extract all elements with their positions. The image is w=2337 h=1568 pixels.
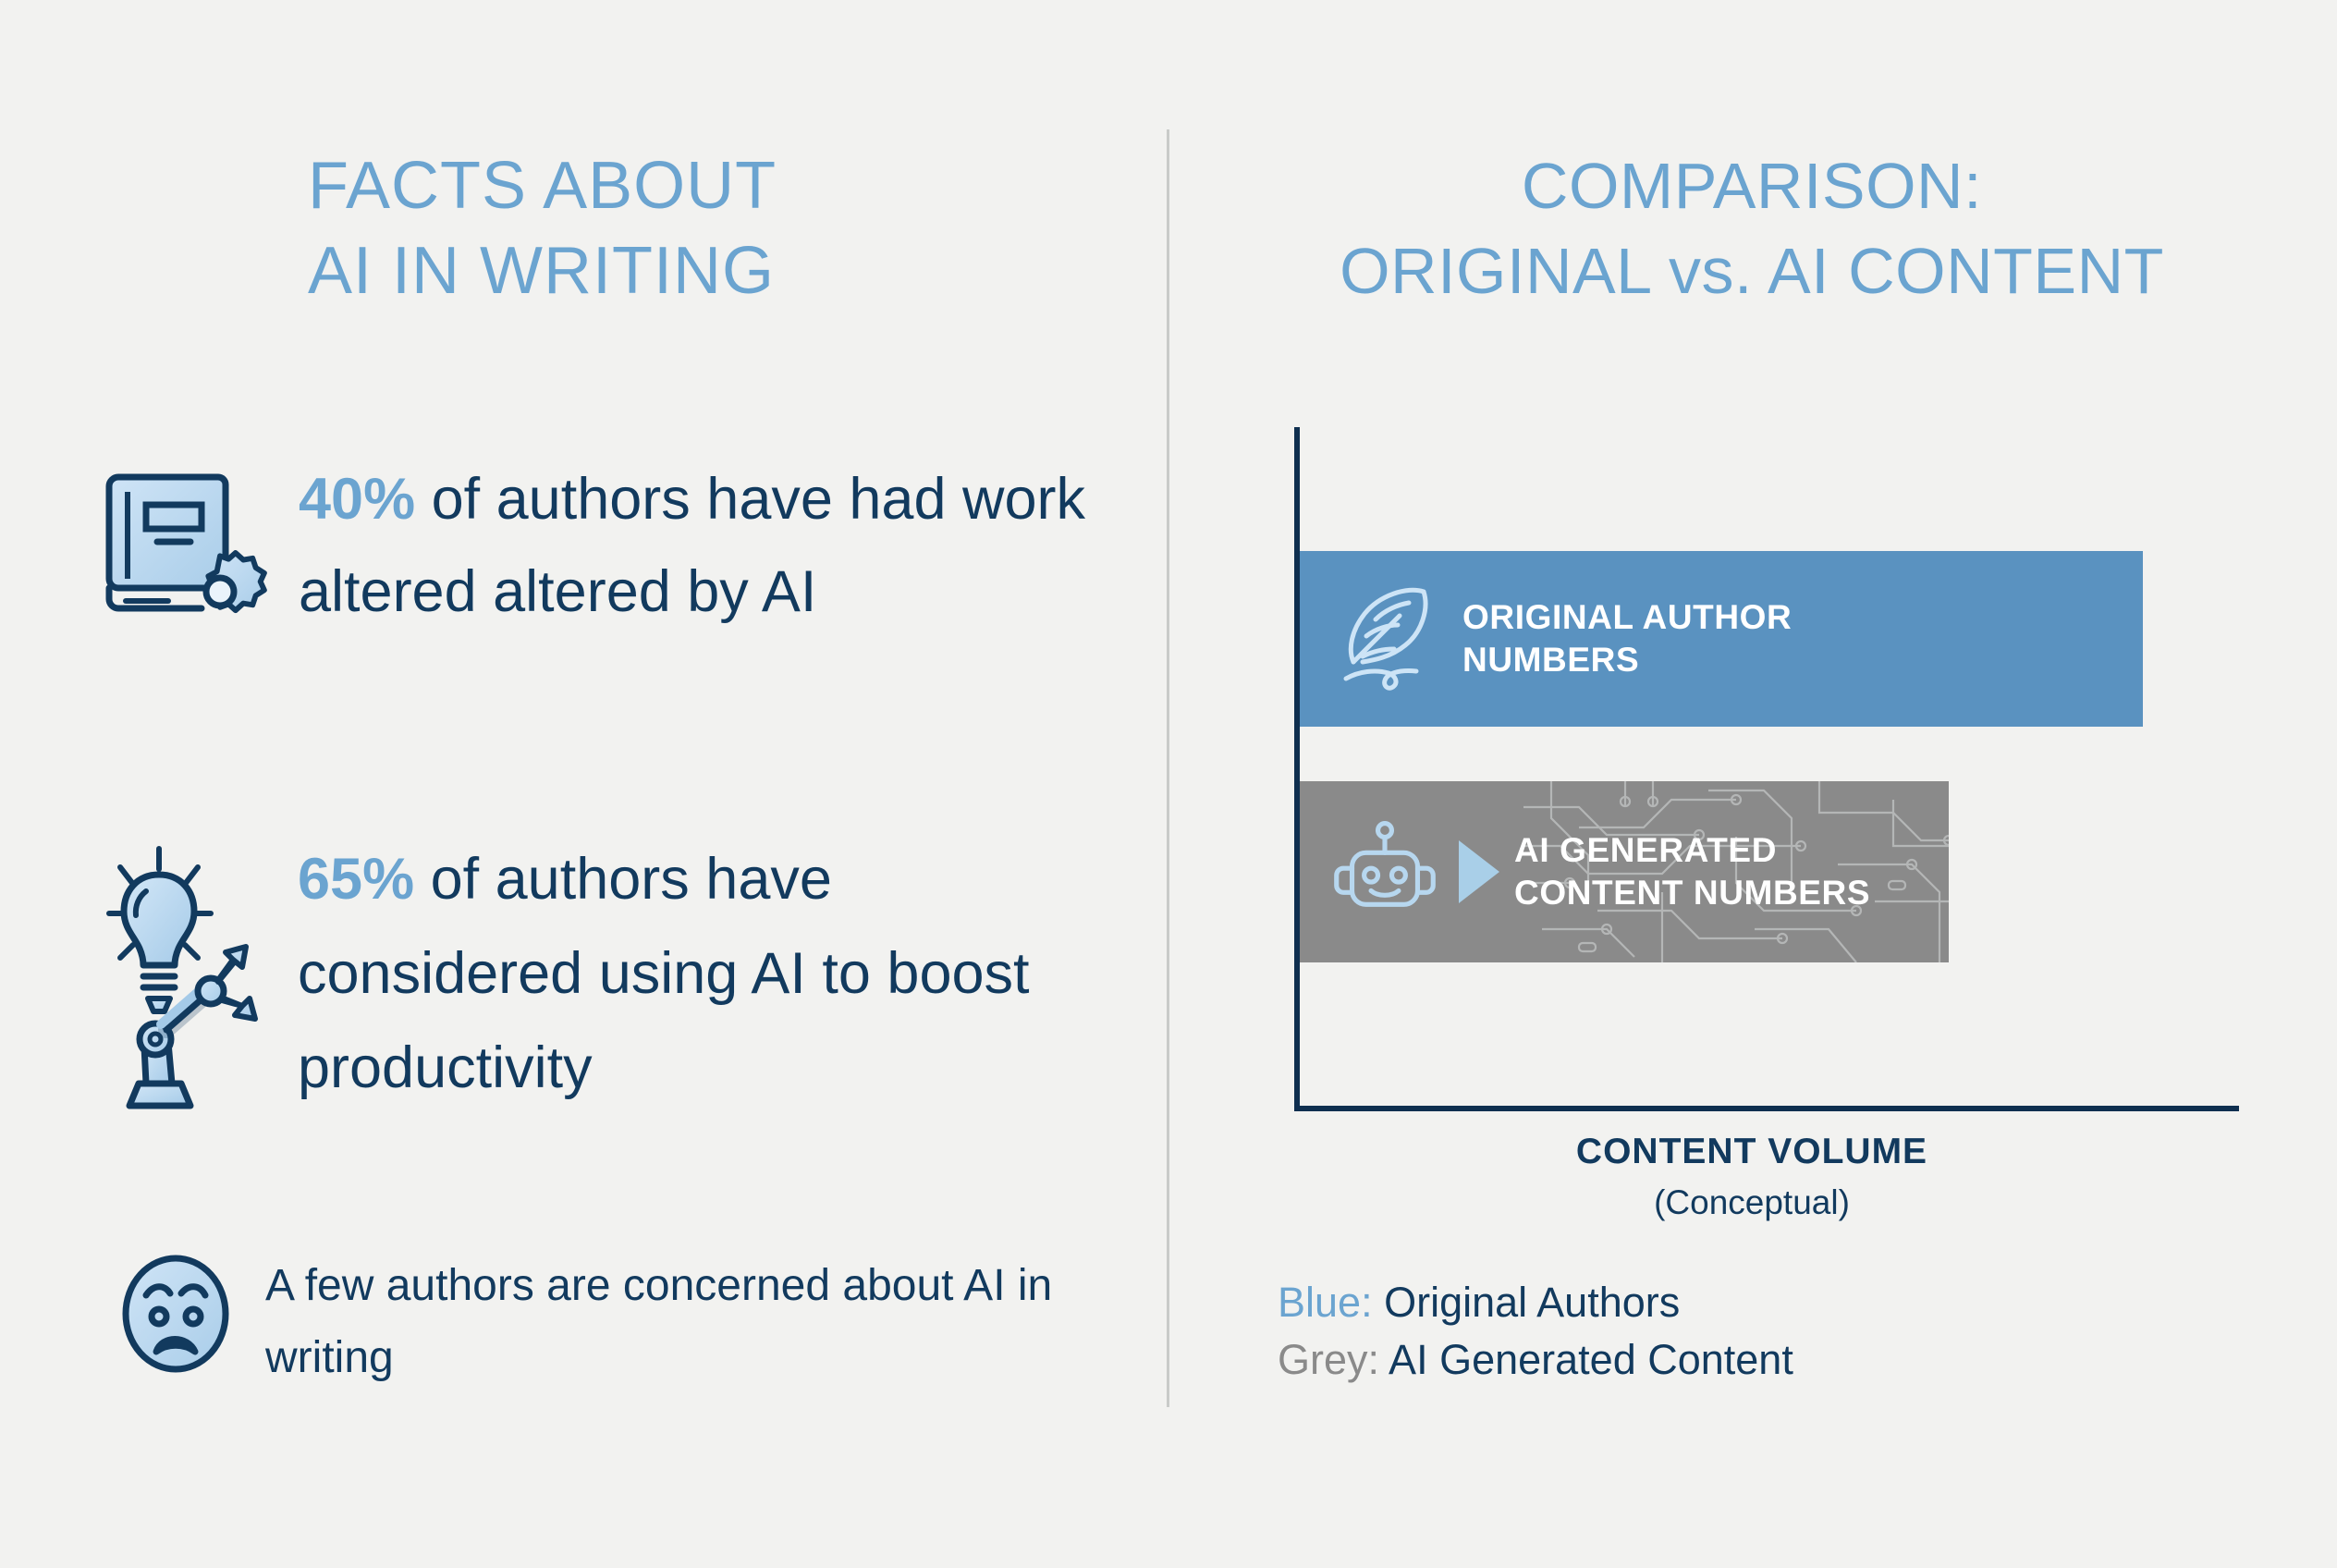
bar-original-author: ORIGINAL AUTHOR NUMBERS xyxy=(1300,551,2143,727)
facts-title-line-1: FACTS ABOUT xyxy=(308,143,1047,228)
bar-label-line-1: AI GENERATED xyxy=(1514,829,1870,872)
bar-ai-generated-content: AI GENERATED CONTENT NUMBERS xyxy=(1300,781,1949,962)
chart-x-axis xyxy=(1294,1106,2239,1111)
fact-percent-1: 40% xyxy=(299,467,415,532)
bar-label-line-2: CONTENT NUMBERS xyxy=(1514,872,1870,914)
fact-text-3: A few authors are concerned about AI in … xyxy=(265,1250,1097,1394)
axis-caption-sub: (Conceptual) xyxy=(1167,1178,2337,1228)
chart-y-axis xyxy=(1294,427,1300,1111)
play-triangle-icon xyxy=(1459,840,1499,903)
quill-feather-icon xyxy=(1333,579,1435,699)
lightbulb-robot-arm-icon xyxy=(102,841,277,1119)
legend-value-blue: Original Authors xyxy=(1373,1279,1681,1326)
fact-text-1: 40% of authors have had work altered alt… xyxy=(299,453,1094,638)
worried-face-icon xyxy=(116,1252,236,1377)
bar-label-line-1: ORIGINAL AUTHOR xyxy=(1462,596,1792,639)
fact-percent-2: 65% xyxy=(298,847,414,912)
fact-text-2: 65% of authors have considered using AI … xyxy=(298,832,1130,1115)
fact-item-1: 40% of authors have had work altered alt… xyxy=(102,453,1137,645)
comparison-bar-chart: ORIGINAL AUTHOR NUMBERS xyxy=(1167,0,2337,1568)
fact-item-3: A few authors are concerned about AI in … xyxy=(116,1250,1151,1394)
bar-label-line-2: NUMBERS xyxy=(1462,639,1792,681)
fact-body-1: of authors have had work altered altered… xyxy=(299,467,1085,624)
bar-original-author-label: ORIGINAL AUTHOR NUMBERS xyxy=(1462,596,1792,681)
chart-axis-caption: CONTENT VOLUME (Conceptual) xyxy=(1167,1126,2337,1228)
bar-ai-generated-label: AI GENERATED CONTENT NUMBERS xyxy=(1514,829,1870,914)
chart-legend: Blue: Original Authors Grey: AI Generate… xyxy=(1278,1274,1793,1389)
facts-panel: FACTS ABOUT AI IN WRITING xyxy=(0,0,1167,1568)
book-gear-icon xyxy=(102,460,273,645)
legend-row-blue: Blue: Original Authors xyxy=(1278,1274,1793,1331)
legend-key-grey: Grey: xyxy=(1278,1336,1379,1383)
fact-item-2: 65% of authors have considered using AI … xyxy=(102,832,1174,1119)
comparison-panel: COMPARISON: ORIGINAL vs. AI CONTENT xyxy=(1167,0,2337,1568)
facts-panel-title: FACTS ABOUT AI IN WRITING xyxy=(308,143,1047,313)
legend-key-blue: Blue: xyxy=(1278,1279,1373,1326)
axis-caption-main: CONTENT VOLUME xyxy=(1167,1126,2337,1178)
robot-head-icon xyxy=(1333,818,1437,926)
legend-row-grey: Grey: AI Generated Content xyxy=(1278,1331,1793,1389)
legend-value-grey: AI Generated Content xyxy=(1379,1336,1793,1383)
facts-title-line-2: AI IN WRITING xyxy=(308,228,1047,313)
